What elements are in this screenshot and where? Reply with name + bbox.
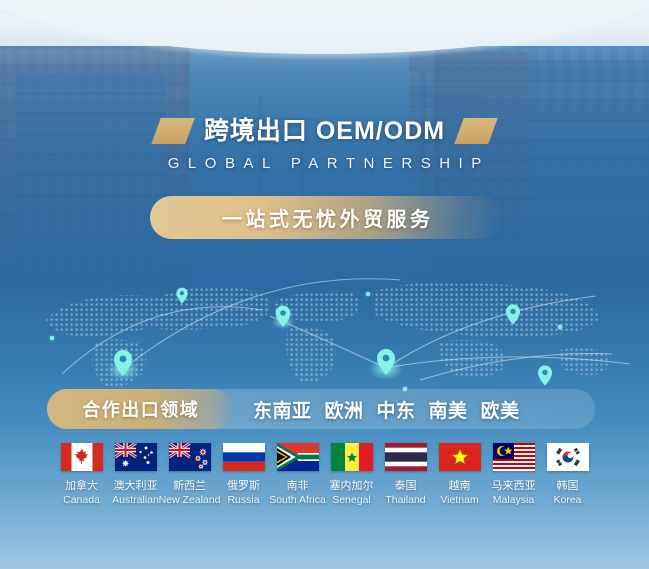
country-name-en: Malaysia [493, 494, 534, 506]
flag-south-korea-icon [547, 443, 589, 471]
country-flags-row: 加拿大 Canada [0, 443, 649, 506]
country-name-cn: 马来西亚 [492, 480, 536, 493]
country-item-australia: 澳大利亚 Australian [109, 443, 163, 506]
flag-south-africa-icon [277, 443, 319, 471]
flag-thailand-icon [385, 443, 427, 471]
country-name-cn: 新西兰 [173, 480, 206, 493]
country-name-cn: 泰国 [395, 480, 417, 493]
service-slogan-label: 一站式无忧外贸服务 [219, 203, 434, 232]
country-name-cn: 南非 [287, 480, 309, 493]
flag-malaysia-icon [493, 443, 535, 471]
headline-row: 跨境出口 OEM/ODM [0, 118, 649, 144]
flag-senegal-icon [331, 443, 373, 471]
export-regions-bar: 合作出口领域 东南亚 欧洲 中东 南美 欧美 [47, 389, 595, 429]
country-name-en: Vietnam [440, 494, 478, 506]
country-name-cn: 越南 [449, 480, 471, 493]
headline-block: 跨境出口 OEM/ODM GLOBAL PARTNERSHIP [0, 118, 649, 172]
export-regions-chip: 合作出口领域 [47, 389, 233, 429]
country-name-en: Thailand [385, 494, 425, 506]
export-regions-list: 东南亚 欧洲 中东 南美 欧美 [233, 396, 595, 423]
country-name-en: Canada [63, 494, 100, 506]
country-item-canada: 加拿大 Canada [55, 443, 109, 506]
country-name-en: Senegal [332, 494, 371, 506]
country-item-russia: 俄罗斯 Russia [217, 443, 271, 506]
country-name-en: Australian [112, 494, 159, 506]
region-item-middle-east: 中东 [377, 396, 416, 423]
page-title: 跨境出口 OEM/ODM [204, 119, 445, 144]
country-name-en: New Zealand [159, 494, 221, 506]
page-subtitle: GLOBAL PARTNERSHIP [0, 155, 649, 172]
flag-new-zealand-icon [169, 443, 211, 471]
country-name-cn: 澳大利亚 [114, 480, 158, 493]
export-regions-chip-label: 合作出口领域 [81, 396, 200, 422]
country-name-en: South Africa [269, 494, 326, 506]
flag-russia-icon [223, 443, 265, 471]
country-name-cn: 塞内加尔 [330, 480, 374, 493]
world-map [0, 258, 649, 394]
country-name-cn: 俄罗斯 [227, 480, 260, 493]
country-item-thailand: 泰国 Thailand [379, 443, 433, 506]
country-name-en: Korea [553, 494, 581, 506]
country-name-cn: 加拿大 [65, 480, 98, 493]
parallelogram-accent-left-icon [151, 118, 194, 144]
flag-canada-icon [61, 443, 103, 471]
parallelogram-accent-right-icon [454, 118, 497, 144]
country-item-malaysia: 马来西亚 Malaysia [487, 443, 541, 506]
region-item-europe-america: 欧美 [481, 396, 520, 423]
country-name-cn: 韩国 [557, 480, 579, 493]
country-item-new-zealand: 新西兰 New Zealand [163, 443, 217, 506]
country-item-south-korea: 韩国 Korea [541, 443, 595, 506]
region-item-europe: 欧洲 [325, 396, 364, 423]
global-partnership-banner: 跨境出口 OEM/ODM GLOBAL PARTNERSHIP 一站式无忧外贸服… [0, 0, 649, 569]
region-item-southeast-asia: 东南亚 [253, 396, 312, 423]
service-slogan-pill: 一站式无忧外贸服务 [150, 196, 502, 239]
country-item-vietnam: 越南 Vietnam [433, 443, 487, 506]
country-name-en: Russia [227, 494, 259, 506]
region-item-south-america: 南美 [429, 396, 468, 423]
flag-vietnam-icon [439, 443, 481, 471]
flag-australia-icon [115, 443, 157, 471]
country-item-south-africa: 南非 South Africa [271, 443, 325, 506]
country-item-senegal: 塞内加尔 Senegal [325, 443, 379, 506]
